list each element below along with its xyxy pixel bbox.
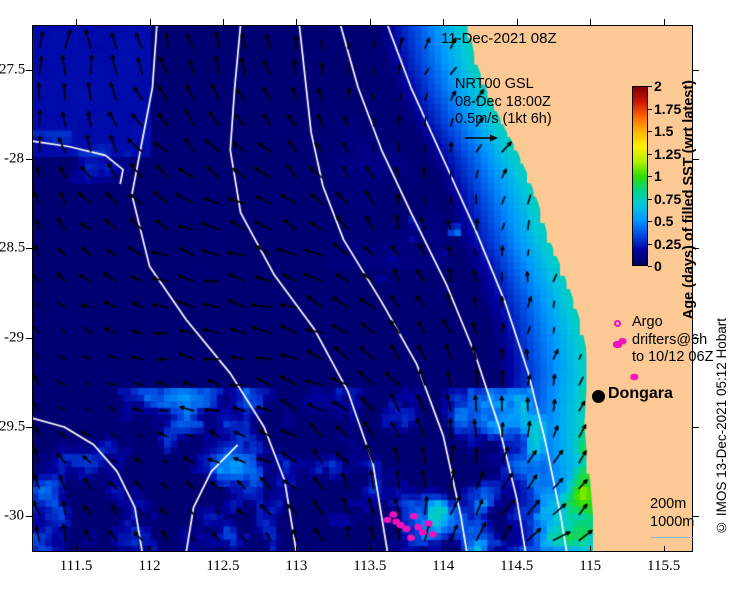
x-axis-tick — [517, 19, 518, 25]
colorbar-tick — [648, 176, 652, 177]
y-axis-tick — [26, 159, 32, 160]
colorbar-tick — [648, 244, 652, 245]
y-axis-tick — [26, 70, 32, 71]
y-axis-tick — [693, 70, 699, 71]
x-axis-tick — [76, 546, 77, 552]
x-axis-tick-label: 115.5 — [647, 558, 680, 575]
colorbar-tick — [648, 86, 652, 87]
y-axis-tick — [693, 516, 699, 517]
colorbar-tick — [648, 199, 652, 200]
x-axis-tick — [664, 546, 665, 552]
x-axis-tick — [296, 19, 297, 25]
model-name-label: NRT00 GSL — [455, 76, 552, 94]
x-axis-tick — [664, 19, 665, 25]
y-axis-tick-label: -27.5 — [0, 61, 24, 78]
x-axis-tick — [370, 19, 371, 25]
x-axis-tick — [296, 546, 297, 552]
map-figure: 11-Dec-2021 08Z NRT00 GSL 08-Dec 18:00Z … — [0, 0, 740, 592]
colorbar-title: Age (days) of filled SST (wrt latest) — [681, 80, 697, 319]
y-axis-tick-label: -30 — [0, 508, 24, 525]
colorbar-tick-label: 1.25 — [654, 146, 681, 162]
colorbar-tick-label: 1.75 — [654, 101, 681, 117]
x-axis-tick — [443, 19, 444, 25]
x-axis-tick-label: 115 — [579, 558, 601, 575]
colorbar-tick-label: 0.5 — [654, 213, 673, 229]
y-axis-tick — [693, 159, 699, 160]
colorbar-tick — [648, 131, 652, 132]
colorbar-tick — [648, 109, 652, 110]
y-axis-tick — [26, 248, 32, 249]
legend-period-label: to 10/12 06Z — [632, 349, 713, 367]
colorbar-tick-label: 0.25 — [654, 236, 681, 252]
y-axis-tick — [693, 248, 699, 249]
y-axis-tick — [26, 516, 32, 517]
vector-scale-label: 0.5m/s (1kt 6h) — [455, 111, 552, 129]
x-axis-tick — [76, 19, 77, 25]
x-axis-tick-label: 112.5 — [206, 558, 239, 575]
depth-200m-label: 200m — [650, 496, 694, 514]
y-axis-tick-label: -29 — [0, 329, 24, 346]
x-axis-tick — [517, 546, 518, 552]
sst-age-raster — [32, 25, 693, 552]
colorbar-tick — [648, 154, 652, 155]
legend: Argo drifters@6h to 10/12 06Z — [632, 314, 713, 367]
datestamp-label: 11-Dec-2021 08Z — [441, 30, 557, 47]
y-axis-tick — [26, 338, 32, 339]
y-axis-tick — [693, 338, 699, 339]
colorbar-tick — [648, 266, 652, 267]
x-axis-tick — [590, 19, 591, 25]
x-axis-tick — [223, 546, 224, 552]
map-plot-area[interactable] — [32, 25, 693, 552]
colorbar-tick — [648, 221, 652, 222]
x-axis-tick-label: 114.5 — [500, 558, 533, 575]
colorbar-tick-label: 1 — [654, 168, 662, 184]
colorbar-tick-label: 2 — [654, 78, 662, 94]
depth-scale-legend: 200m 1000m — [650, 496, 694, 531]
colorbar: 21.751.51.2510.750.50.250 — [632, 86, 648, 266]
x-axis-tick — [150, 19, 151, 25]
x-axis-tick — [443, 546, 444, 552]
model-annotation: NRT00 GSL 08-Dec 18:00Z 0.5m/s (1kt 6h) — [455, 76, 552, 129]
x-axis-tick — [150, 546, 151, 552]
y-axis-tick — [26, 427, 32, 428]
drifter-marker-icon — [613, 341, 622, 348]
y-axis-tick — [693, 427, 699, 428]
y-axis-tick-label: -28 — [0, 150, 24, 167]
x-axis-tick — [590, 546, 591, 552]
y-axis-tick-label: -28.5 — [0, 240, 24, 257]
colorbar-tick-label: 0.75 — [654, 191, 681, 207]
legend-argo-label: Argo — [632, 314, 713, 332]
model-time-label: 08-Dec 18:00Z — [455, 94, 552, 112]
legend-drifters-label: drifters@6h — [632, 332, 713, 350]
argo-marker-icon — [614, 320, 621, 327]
city-label: Dongara — [608, 385, 673, 403]
x-axis-tick-label: 113 — [285, 558, 307, 575]
x-axis-tick-label: 114 — [432, 558, 454, 575]
colorbar-gradient — [632, 86, 648, 266]
x-axis-tick-label: 113.5 — [353, 558, 386, 575]
city-dot — [592, 390, 605, 403]
depth-1000m-label: 1000m — [650, 514, 694, 532]
x-axis-tick-label: 111.5 — [60, 558, 93, 575]
x-axis-tick — [370, 546, 371, 552]
y-axis-tick-label: -29.5 — [0, 418, 24, 435]
x-axis-tick — [223, 19, 224, 25]
colorbar-tick-label: 1.5 — [654, 123, 673, 139]
right-arrow-icon — [464, 133, 498, 143]
copyright-label: © IMOS 13-Dec-2021 05:12 Hobart — [714, 318, 729, 535]
depth-scale-line — [651, 537, 693, 538]
x-axis-tick-label: 112 — [139, 558, 161, 575]
colorbar-tick-label: 0 — [654, 258, 662, 274]
